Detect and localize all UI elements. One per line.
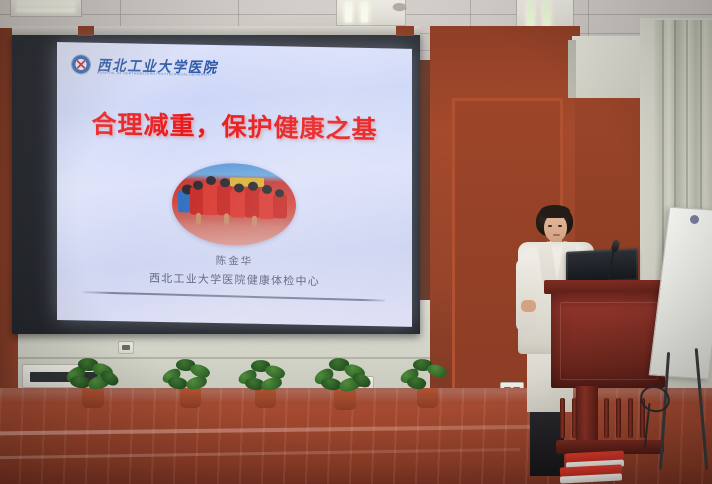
runner-head [234,183,244,192]
podium-column [576,386,598,444]
logo-english-name: HOSPITAL OF NORTHWESTERN POLYTECHNICAL U… [97,71,212,77]
presenter-face [544,214,567,242]
slide-photo-runners [172,162,296,246]
runner-head [262,185,272,194]
slide-presenter-affiliation: 西北工业大学医院健康体检中心 [57,268,412,291]
podium-spindle [628,398,633,438]
slide-title: 合理减重，保护健康之基 [57,104,412,147]
presenter-mouth [553,234,560,236]
slide-logo: 西北工业大学医院 HOSPITAL OF NORTHWESTERN POLYTE… [71,53,251,82]
podium-spindle [572,398,577,438]
podium-spindle [560,398,565,438]
photo-scene: 西北工业大学医院 HOSPITAL OF NORTHWESTERN POLYTE… [0,0,712,484]
track-surface [172,224,296,246]
potted-plant [62,356,124,408]
podium-spindle [604,398,609,438]
runner-head [206,176,216,185]
board-rail-clip [78,26,94,36]
presenter-hand [521,300,536,312]
runner [273,194,287,218]
runner-head [193,181,203,190]
red-cross-icon [77,60,85,68]
board-rail-clip [396,26,414,36]
board-top-rail [12,26,420,35]
ceiling-beam-side [568,40,576,98]
runner-leg [224,213,229,225]
ceiling-light-fixture [10,0,82,17]
presenter-arm [516,258,536,332]
runner-leg [252,216,257,227]
runner-head [275,189,284,197]
runner-head [248,182,258,191]
runner-head [220,178,230,187]
smoke-detector-icon [393,3,406,10]
potted-plant [312,356,376,410]
runner [245,188,260,218]
runner [230,189,246,217]
potted-plant [160,358,220,408]
podium-spindle [616,398,621,438]
wall-outlet [118,341,134,354]
projected-slide: 西北工业大学医院 HOSPITAL OF NORTHWESTERN POLYTE… [57,42,412,327]
runner-leg [196,213,201,225]
whiteboard-clip-icon [690,215,699,224]
potted-plant [236,358,296,408]
podium-front-panel [560,302,658,380]
potted-plant [398,358,458,408]
presenter-hair-fringe [540,205,570,218]
slide-divider-line [83,291,385,301]
laptop-screen-bezel [568,250,636,282]
